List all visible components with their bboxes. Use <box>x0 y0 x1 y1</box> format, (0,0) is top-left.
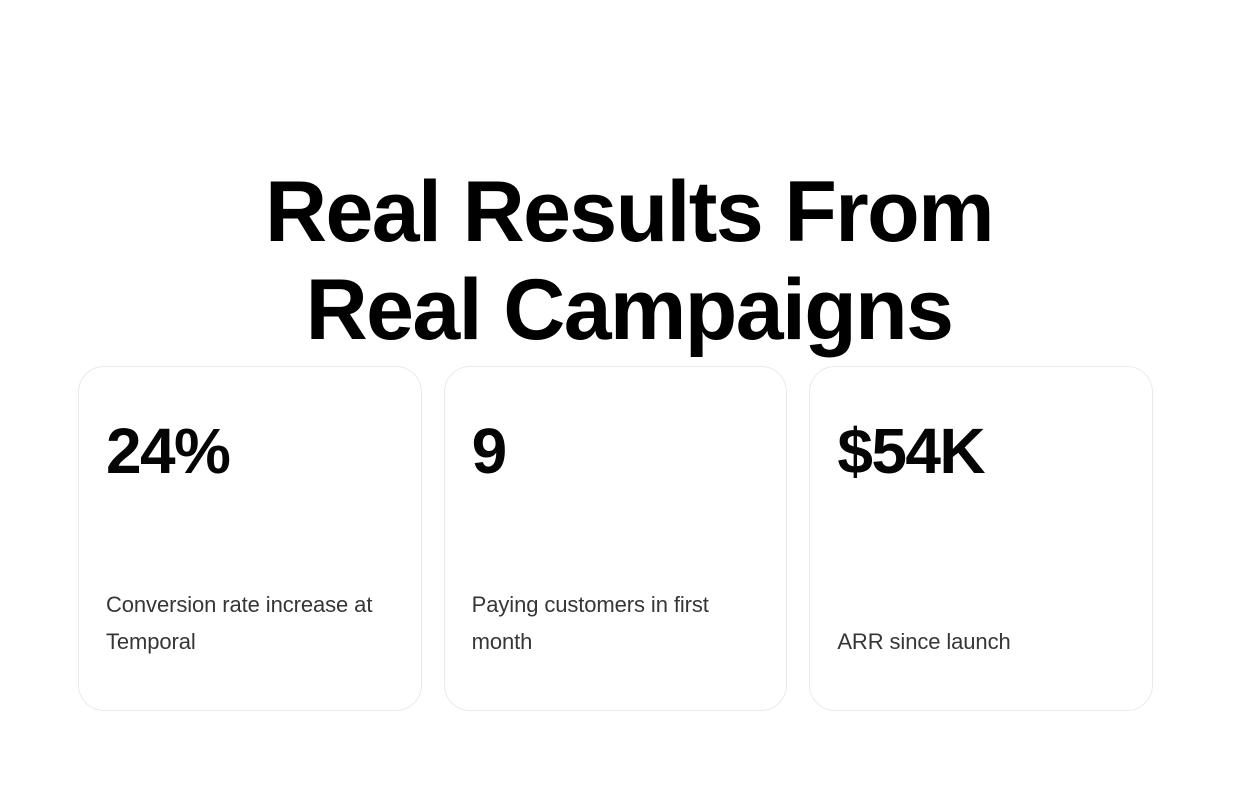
results-stats-section: Real Results From Real Campaigns 24% Con… <box>0 0 1258 798</box>
stat-value: $54K <box>837 419 984 483</box>
stat-card-paying-customers: 9 Paying customers in first month <box>444 366 788 711</box>
page-title: Real Results From Real Campaigns <box>0 163 1258 359</box>
stats-card-grid: 24% Conversion rate increase at Temporal… <box>78 366 1153 711</box>
stat-value: 9 <box>472 419 506 483</box>
stat-value: 24% <box>106 419 229 483</box>
stat-label: ARR since launch <box>837 623 1010 660</box>
stat-card-conversion-rate: 24% Conversion rate increase at Temporal <box>78 366 422 711</box>
stat-card-arr: $54K ARR since launch <box>809 366 1153 711</box>
stat-label: Paying customers in first month <box>472 586 760 660</box>
stat-label: Conversion rate increase at Temporal <box>106 586 394 660</box>
